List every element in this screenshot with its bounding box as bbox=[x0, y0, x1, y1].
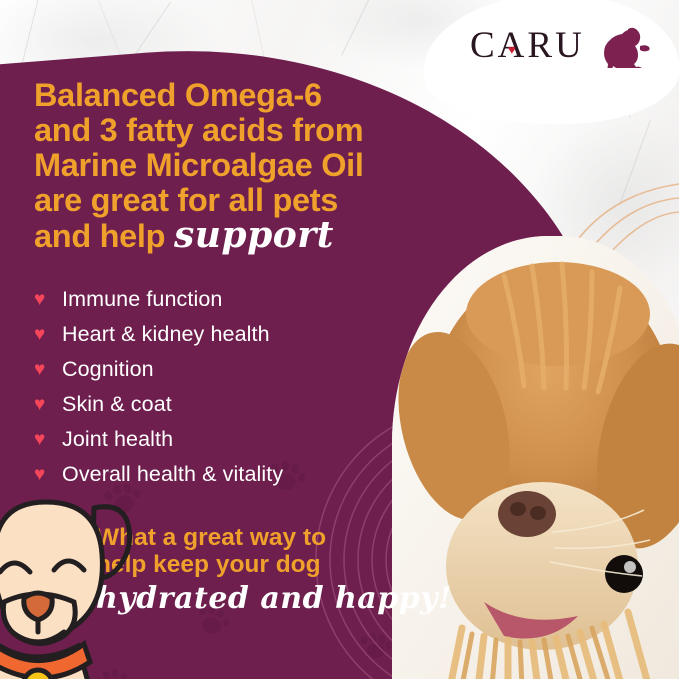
logo-wordmark: CARU bbox=[470, 25, 585, 66]
benefit-label: Heart & kidney health bbox=[62, 322, 270, 347]
heart-icon: ♥ bbox=[32, 360, 62, 379]
heart-icon: ♥ bbox=[32, 325, 62, 344]
heart-icon: ♥ bbox=[32, 290, 62, 309]
infographic-canvas: CARU ♥ Balanced Omega-6 and 3 fatty acid… bbox=[0, 0, 679, 679]
list-item: ♥ Cognition bbox=[32, 352, 432, 387]
benefit-label: Cognition bbox=[62, 357, 154, 382]
headline-line-5-plain: and help bbox=[34, 218, 165, 254]
headline-line-2: and 3 fatty acids from bbox=[34, 113, 454, 148]
headline-line-4: are great for all pets bbox=[34, 183, 454, 218]
cartoon-dog-illustration bbox=[0, 492, 157, 679]
list-item: ♥ Joint health bbox=[32, 422, 432, 457]
list-item: ♥ Skin & coat bbox=[32, 387, 432, 422]
benefit-label: Joint health bbox=[62, 427, 173, 452]
benefit-label: Skin & coat bbox=[62, 392, 172, 417]
heart-icon: ♥ bbox=[32, 395, 62, 414]
list-item: ♥ Overall health & vitality bbox=[32, 457, 432, 492]
headline: Balanced Omega-6 and 3 fatty acids from … bbox=[34, 78, 454, 254]
heart-icon: ♥ bbox=[32, 430, 62, 449]
brand-logo[interactable]: CARU ♥ bbox=[470, 22, 650, 68]
benefit-label: Overall health & vitality bbox=[62, 462, 283, 487]
headline-line-1: Balanced Omega-6 bbox=[34, 78, 454, 113]
heart-icon: ♥ bbox=[508, 45, 519, 55]
benefit-label: Immune function bbox=[62, 287, 222, 312]
headline-line-3: Marine Microalgae Oil bbox=[34, 148, 454, 183]
list-item: ♥ Immune function bbox=[32, 282, 432, 317]
heart-icon: ♥ bbox=[32, 465, 62, 484]
list-item: ♥ Heart & kidney health bbox=[32, 317, 432, 352]
headline-script-support: support bbox=[174, 214, 334, 256]
headline-line-5: and help support bbox=[34, 218, 454, 254]
benefits-list: ♥ Immune function ♥ Heart & kidney healt… bbox=[32, 282, 432, 492]
dog-silhouette-icon bbox=[588, 26, 650, 68]
